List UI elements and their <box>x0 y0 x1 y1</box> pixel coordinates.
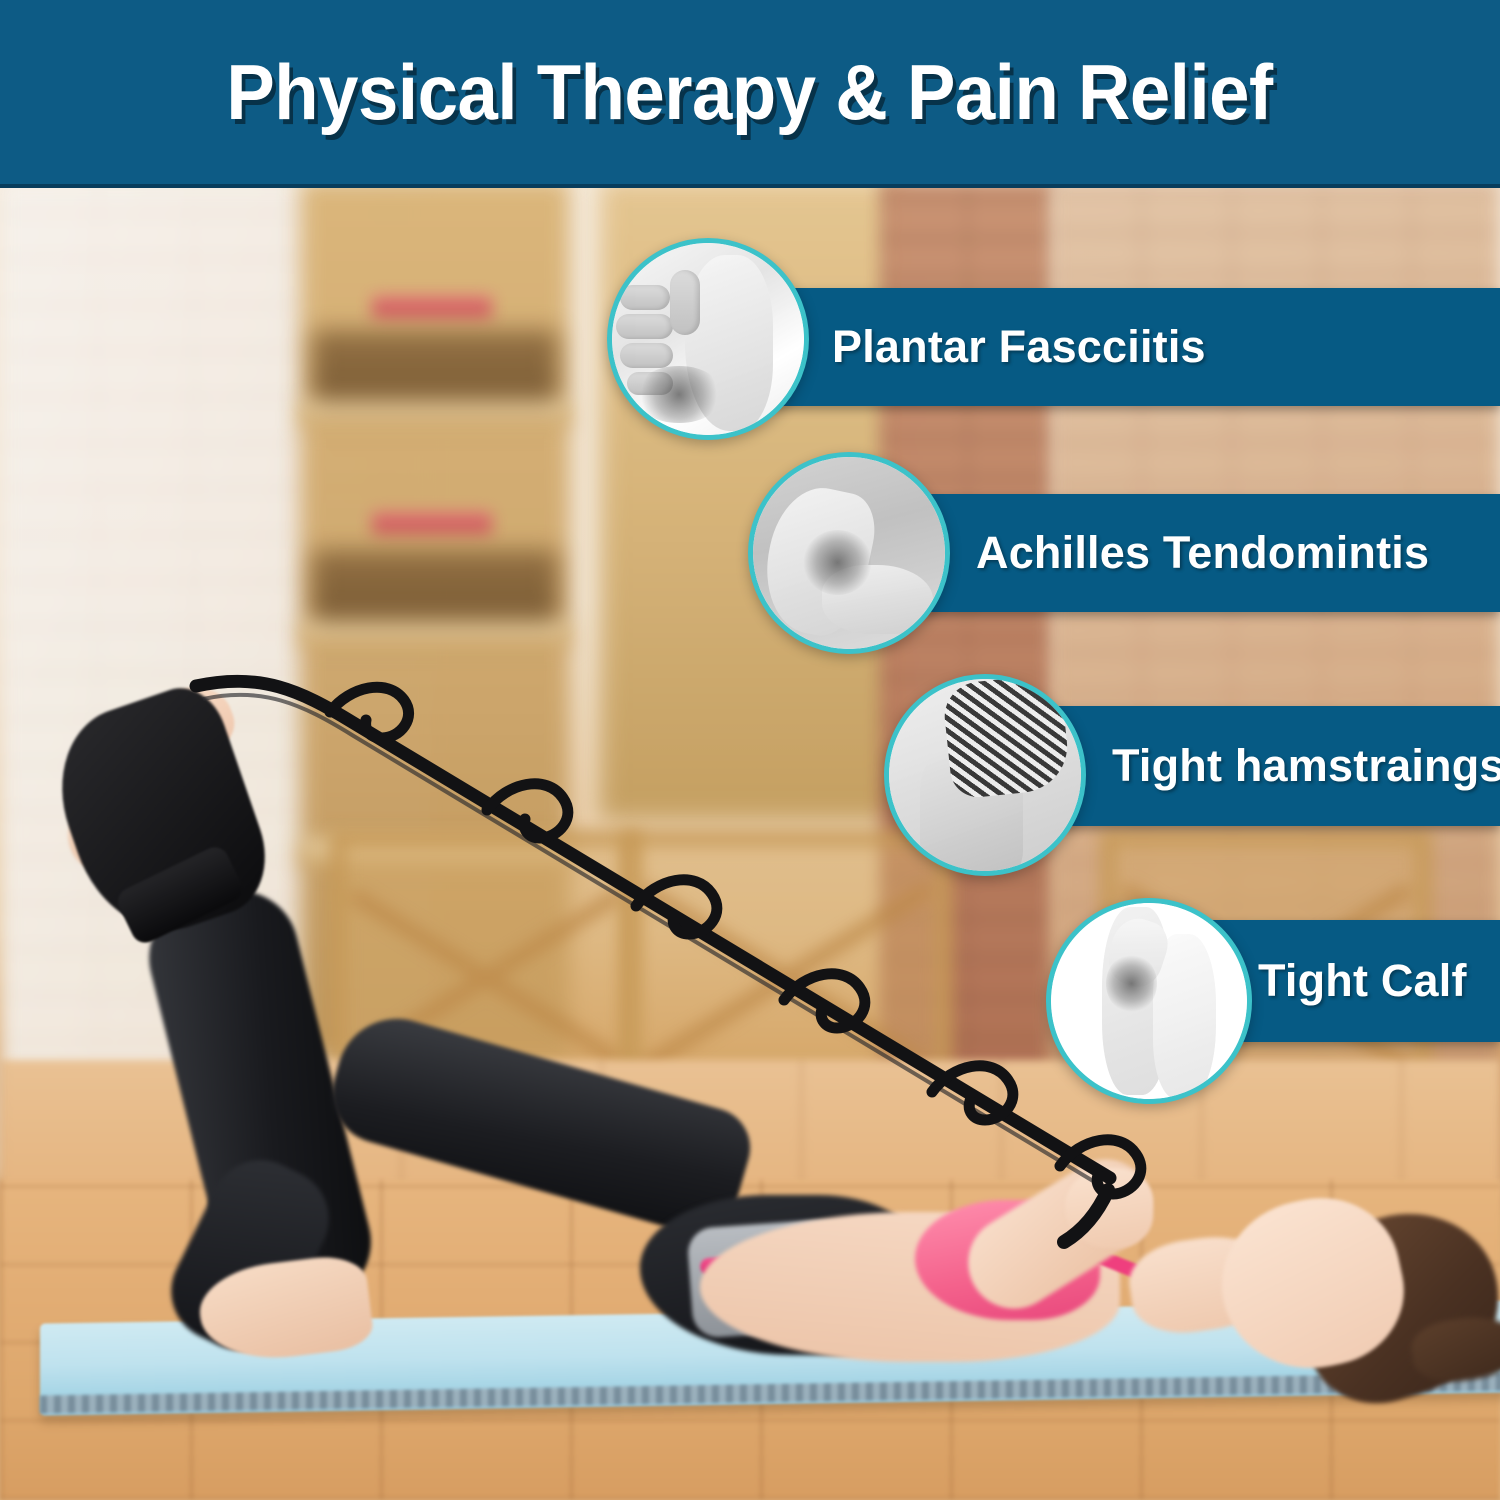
callout-label-tight-calf: Tight Calf <box>1258 955 1467 1007</box>
callout-icon-tight-hamstrings[interactable] <box>884 674 1086 876</box>
foot-sole-massage-icon <box>612 243 804 435</box>
callout-bar-achilles-tendonitis[interactable]: Achilles Tendomintis <box>892 494 1500 612</box>
shelf-plank <box>300 620 570 646</box>
callout-bar-tight-hamstrings[interactable]: Tight hamstraings <box>1028 706 1500 826</box>
hamstring-thigh-pain-icon <box>889 679 1081 871</box>
product-poster: Plantar Fascciitis Achilles Tendomintis … <box>0 0 1500 1500</box>
callout-label-achilles-tendonitis: Achilles Tendomintis <box>976 527 1429 579</box>
shelf-plank <box>300 400 570 426</box>
calf-muscle-pain-icon <box>1051 903 1247 1099</box>
ankle-achilles-pain-icon <box>753 457 945 649</box>
callout-icon-tight-calf[interactable] <box>1046 898 1252 1104</box>
callout-icon-plantar-fasciitis[interactable] <box>607 238 809 440</box>
shelf-gap <box>312 330 558 400</box>
callout-label-tight-hamstrings: Tight hamstraings <box>1112 740 1500 792</box>
hand-gripping-strap <box>1065 1168 1153 1248</box>
callout-icon-achilles-tendonitis[interactable] <box>748 452 950 654</box>
callout-label-plantar-fasciitis: Plantar Fascciitis <box>832 321 1206 373</box>
shelf-book <box>372 512 492 534</box>
page-title: Physical Therapy & Pain Relief <box>227 47 1273 138</box>
shelf-gap <box>312 550 558 620</box>
shelf-book <box>372 296 492 318</box>
header-banner: Physical Therapy & Pain Relief <box>0 0 1500 188</box>
callout-bar-plantar-fasciitis[interactable]: Plantar Fascciitis <box>748 288 1500 406</box>
